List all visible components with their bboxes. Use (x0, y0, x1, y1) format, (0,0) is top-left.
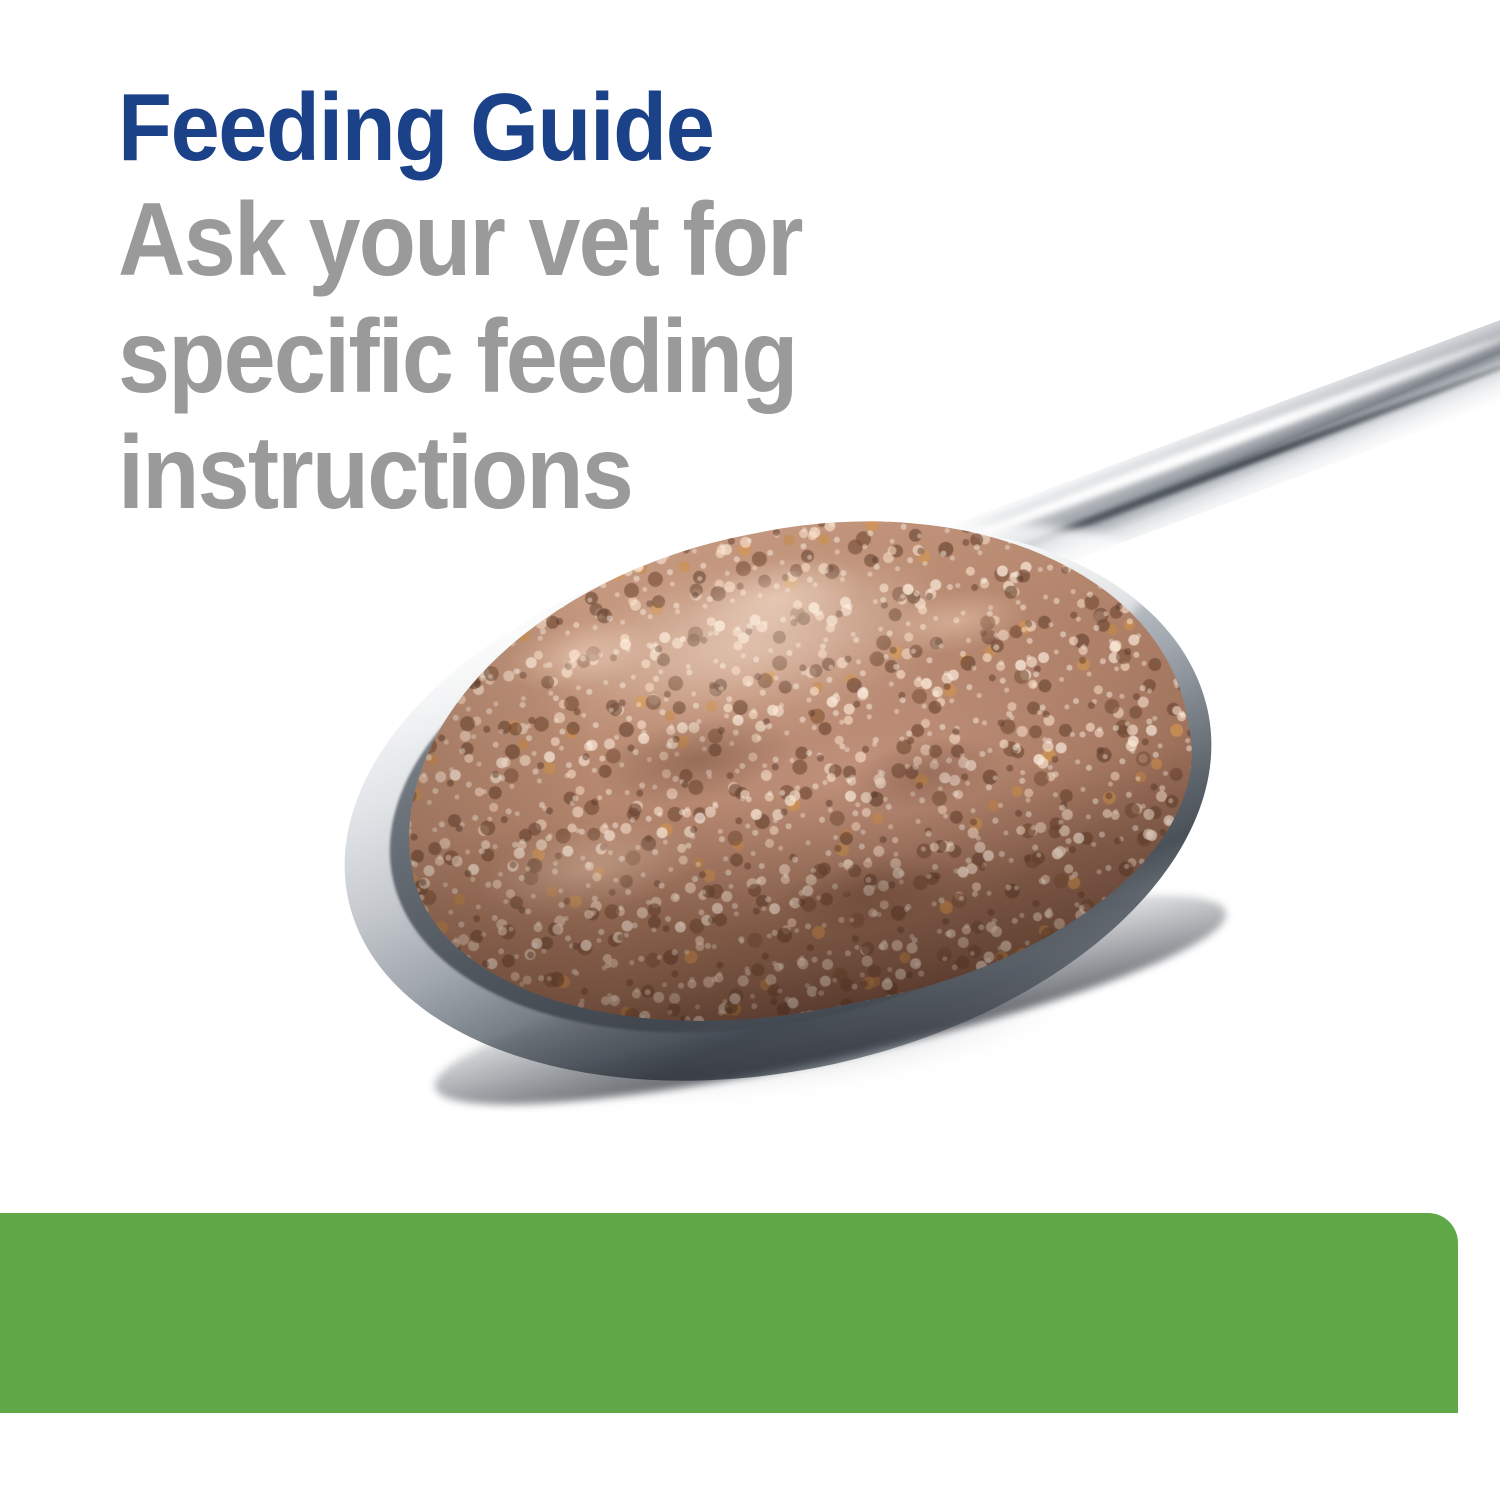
feeding-guide-panel: Feeding Guide Ask your vet for specific … (0, 0, 1500, 1500)
subtitle-line-1: Ask your vet for (118, 182, 928, 298)
product-photo (300, 330, 1500, 1160)
footer-green-bar (0, 1213, 1458, 1413)
page-title: Feeding Guide (118, 82, 946, 174)
